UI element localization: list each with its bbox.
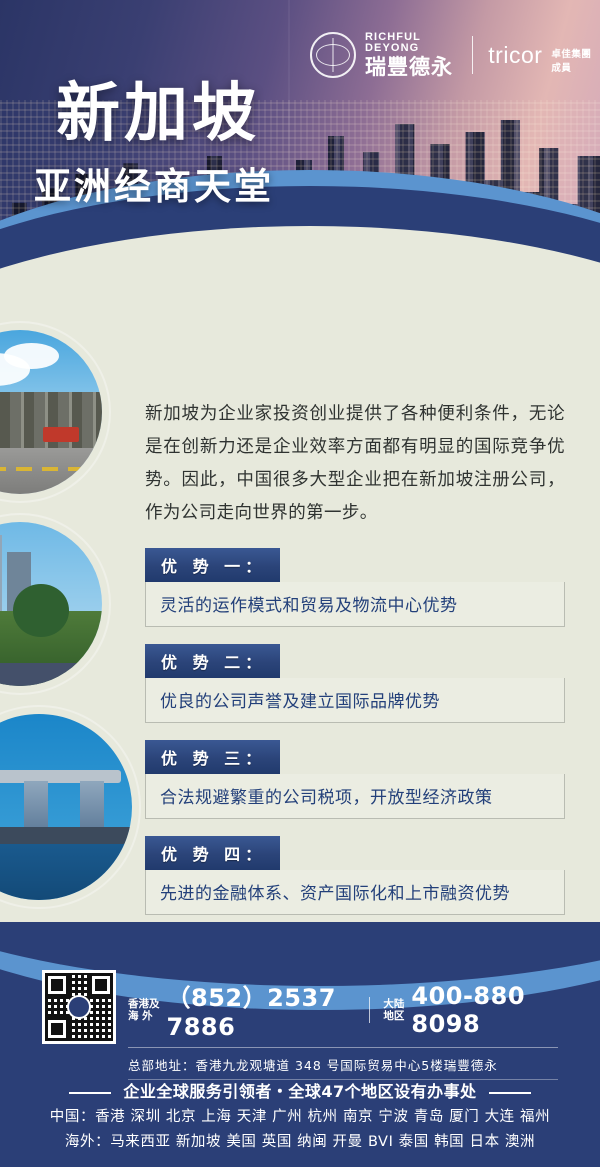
photo-tree — [13, 584, 69, 636]
page-subtitle: 亚洲经商天堂 — [34, 168, 274, 205]
photo-greenery-skyline — [0, 522, 102, 686]
logo-wordmark: RICHFUL DEYONG 瑞豐德永 — [365, 32, 457, 78]
contact-block: 香港及 海 外 （852）2537 7886 大陆 地区 400-880 809… — [128, 978, 558, 1080]
logo-english-name: RICHFUL DEYONG — [365, 32, 457, 54]
logo-partner-name: tricor — [488, 42, 542, 69]
advantage-label: 优 势 二： — [145, 644, 280, 678]
photo-promenade — [0, 827, 132, 844]
tagline-text: 企业全球服务引领者・全球47个地区设有办事处 — [123, 1082, 476, 1101]
brand-logo: RICHFUL DEYONG 瑞豐德永 tricor 卓佳集團成員 — [310, 32, 600, 78]
qr-finder-icon — [45, 1017, 69, 1041]
qr-code-pattern — [45, 973, 113, 1041]
page-title: 新加坡 — [56, 82, 260, 146]
advantage-label: 优 势 一： — [145, 548, 280, 582]
hk-region-label: 香港及 海 外 — [128, 998, 160, 1022]
phone-divider — [369, 997, 371, 1023]
advantage-label: 优 势 四： — [145, 836, 280, 870]
advantage-text: 优良的公司声誉及建立国际品牌优势 — [145, 678, 565, 723]
advantage-item: 优 势 二： 优良的公司声誉及建立国际品牌优势 — [145, 644, 565, 723]
qr-center-logo-icon — [67, 995, 91, 1019]
advantage-text: 合法规避繁重的公司税项，开放型经济政策 — [145, 774, 565, 819]
advantage-text: 灵活的运作模式和贸易及物流中心优势 — [145, 582, 565, 627]
photo-marina-bay-sands — [0, 714, 132, 900]
cn-phone-number[interactable]: 400-880 8098 — [411, 982, 558, 1038]
hk-phone-number[interactable]: （852）2537 7886 — [167, 978, 356, 1041]
company-tagline: 企业全球服务引领者・全球47个地区设有办事处 — [0, 1078, 600, 1102]
advantage-item: 优 势 四： 先进的金融体系、资产国际化和上市融资优势 — [145, 836, 565, 915]
logo-member-note: 卓佳集團成員 — [551, 46, 600, 74]
tagline-rule-right — [489, 1092, 531, 1094]
region-china-line: 中国：香港 深圳 北京 上海 天津 广州 杭州 南京 宁波 青岛 厦门 大连 福… — [0, 1105, 600, 1130]
poster-root: RICHFUL DEYONG 瑞豐德永 tricor 卓佳集團成員 新加坡 亚洲… — [0, 0, 600, 1167]
advantage-label: 优 势 三： — [145, 740, 280, 774]
photo-shophouses — [0, 330, 102, 494]
headquarters-address: 总部地址：香港九龙观塘道 348 号国际贸易中心5楼瑞豐德永 — [128, 1055, 558, 1080]
photo-tower — [0, 535, 2, 620]
advantage-text: 先进的金融体系、资产国际化和上市融资优势 — [145, 870, 565, 915]
advantage-item: 优 势 三： 合法规避繁重的公司税项，开放型经济政策 — [145, 740, 565, 819]
cn-region-label: 大陆 地区 — [383, 998, 404, 1022]
region-overseas-line: 海外：马来西亚 新加坡 美国 英国 纳闽 开曼 BVI 泰国 韩国 日本 澳洲 — [0, 1130, 600, 1155]
photo-red-awning — [43, 427, 79, 442]
region-list: 中国：香港 深圳 北京 上海 天津 广州 杭州 南京 宁波 青岛 厦门 大连 福… — [0, 1105, 600, 1155]
phone-row: 香港及 海 外 （852）2537 7886 大陆 地区 400-880 809… — [128, 978, 558, 1048]
qr-finder-icon — [89, 973, 113, 997]
intro-paragraph: 新加坡为企业家投资创业提供了各种便利条件，无论是在创新力还是企业效率方面都有明显… — [145, 398, 565, 530]
photo-bay-water — [0, 844, 132, 900]
tagline-rule-left — [69, 1092, 111, 1094]
logo-divider — [472, 36, 473, 74]
photo-ground — [0, 663, 102, 686]
qr-code[interactable] — [42, 970, 116, 1044]
photo-road — [0, 448, 102, 494]
crest-icon — [310, 32, 356, 78]
advantage-item: 优 势 一： 灵活的运作模式和贸易及物流中心优势 — [145, 548, 565, 627]
logo-chinese-name: 瑞豐德永 — [365, 57, 457, 78]
qr-finder-icon — [45, 973, 69, 997]
